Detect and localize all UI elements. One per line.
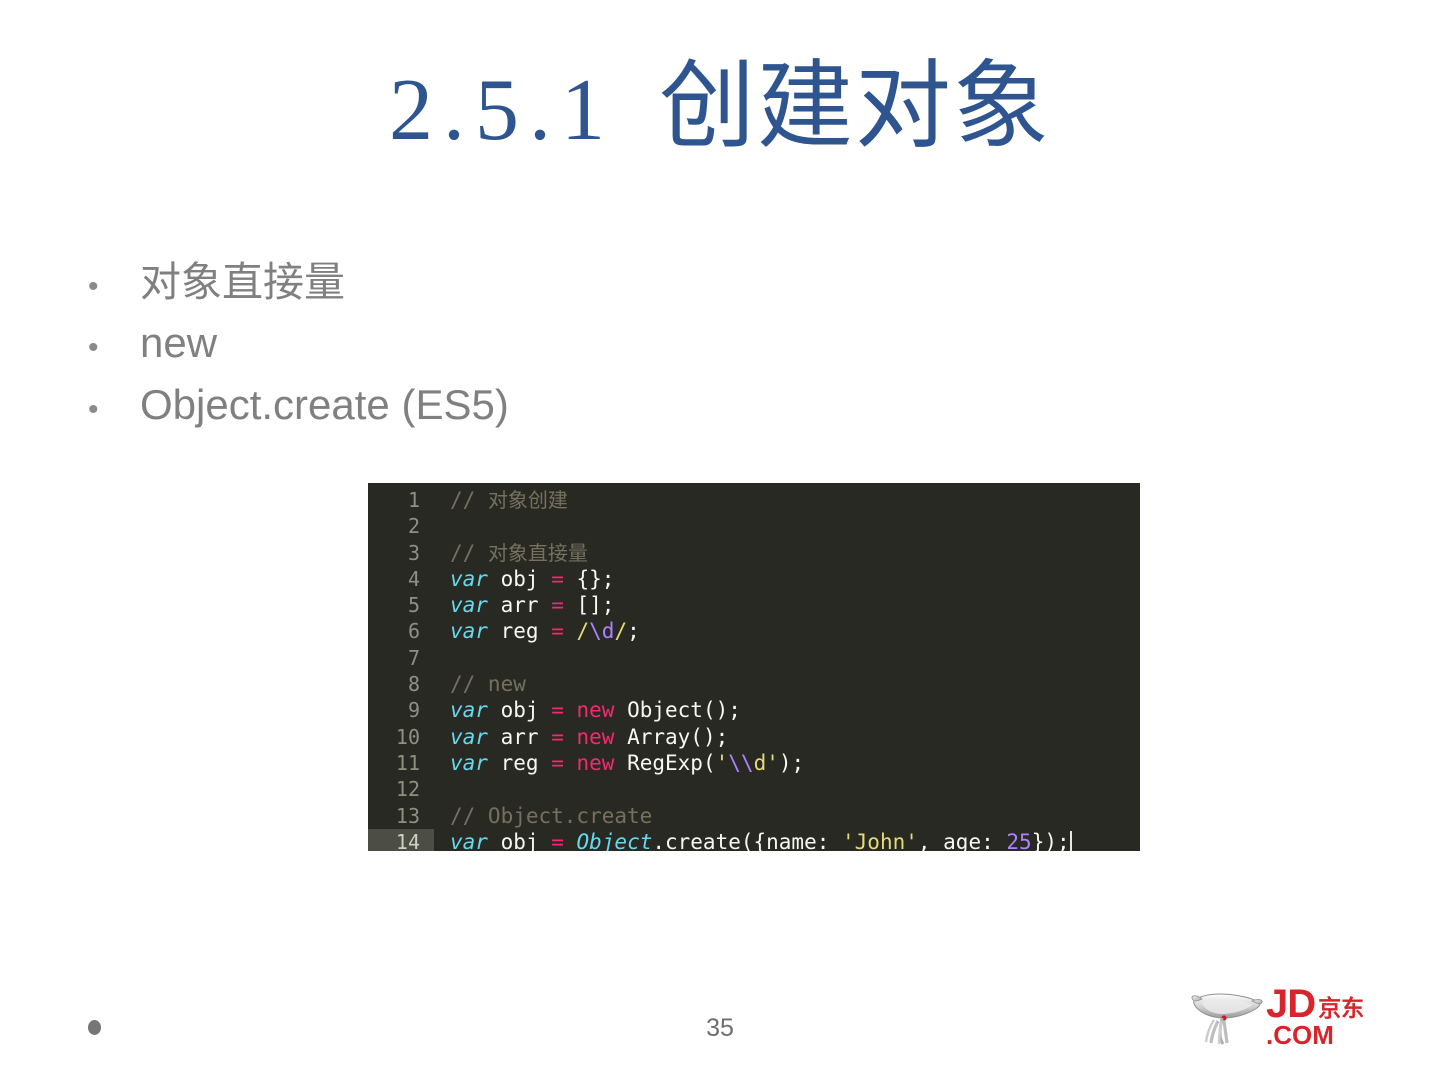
line-number: 10: [368, 724, 434, 750]
title-text: 创建对象: [659, 50, 1051, 162]
code-line: 13 // Object.create: [368, 803, 1140, 829]
code-line: 8 // new: [368, 671, 1140, 697]
code-line-text: var obj = new Object();: [434, 697, 741, 723]
code-line-text: var reg = /\d/;: [434, 618, 640, 644]
code-line-text: // 对象直接量: [434, 540, 588, 566]
line-number: 8: [368, 671, 434, 697]
jd-logo: JD 京东 .COM: [1190, 985, 1380, 1047]
code-line: 5 var arr = [];: [368, 592, 1140, 618]
page-title: 2.5.1创建对象: [0, 58, 1440, 155]
line-number: 7: [368, 645, 434, 671]
bullet-icon: •: [78, 333, 140, 363]
joy-dog-mascot-icon: [1190, 987, 1264, 1045]
line-number: 2: [368, 513, 434, 539]
list-item: • Object.create (ES5): [78, 380, 978, 430]
line-number: 13: [368, 803, 434, 829]
code-line: 2: [368, 513, 1140, 539]
bullet-list: • 对象直接量 • new • Object.create (ES5): [78, 258, 978, 441]
code-line-text: var arr = new Array();: [434, 724, 728, 750]
jd-domain: .COM: [1266, 1022, 1364, 1048]
code-line-text: // Object.create: [434, 803, 652, 829]
list-item: • 对象直接量: [78, 258, 978, 306]
code-line-text: var arr = [];: [434, 592, 614, 618]
jd-chinese-name: 京东: [1318, 998, 1364, 1021]
code-line: 12: [368, 776, 1140, 802]
code-line: 10 var arr = new Array();: [368, 724, 1140, 750]
code-line: 6 var reg = /\d/;: [368, 618, 1140, 644]
code-line: 11 var reg = new RegExp('\\d');: [368, 750, 1140, 776]
bullet-label-object-create: Object.create (ES5): [140, 380, 509, 430]
line-number: 4: [368, 566, 434, 592]
line-number: 9: [368, 697, 434, 723]
code-line-text: var reg = new RegExp('\\d');: [434, 750, 804, 776]
line-number: 6: [368, 618, 434, 644]
list-item: • new: [78, 318, 978, 368]
line-number: 14: [368, 829, 434, 851]
code-line: 1 // 对象创建: [368, 487, 1140, 513]
line-number: 3: [368, 540, 434, 566]
code-line-text: var obj = Object.create({name: 'John', a…: [434, 829, 1072, 851]
jd-wordmark: JD 京东 .COM: [1266, 984, 1364, 1048]
code-line: 7: [368, 645, 1140, 671]
bullet-icon: •: [78, 272, 140, 302]
code-line: 3 // 对象直接量: [368, 540, 1140, 566]
bullet-label-new: new: [140, 318, 217, 368]
code-screenshot: 1 // 对象创建 2 3 // 对象直接量 4 var obj = {}; 5…: [368, 483, 1140, 851]
line-number: 1: [368, 487, 434, 513]
bullet-icon: •: [78, 395, 140, 425]
line-number: 12: [368, 776, 434, 802]
text-caret: [1070, 831, 1072, 851]
code-line-active: 14 var obj = Object.create({name: 'John'…: [368, 829, 1140, 851]
line-number: 11: [368, 750, 434, 776]
code-line: 9 var obj = new Object();: [368, 697, 1140, 723]
jd-wordmark-top: JD 京东: [1266, 984, 1364, 1024]
code-line: 4 var obj = {};: [368, 566, 1140, 592]
code-line-text: // 对象创建: [434, 487, 568, 513]
title-number: 2.5.1: [389, 62, 615, 159]
jd-letters: JD: [1266, 984, 1315, 1024]
bullet-label-object-literal: 对象直接量: [140, 258, 345, 306]
code-line-text: // new: [434, 671, 526, 697]
code-line-text: var obj = {};: [434, 566, 614, 592]
line-number: 5: [368, 592, 434, 618]
